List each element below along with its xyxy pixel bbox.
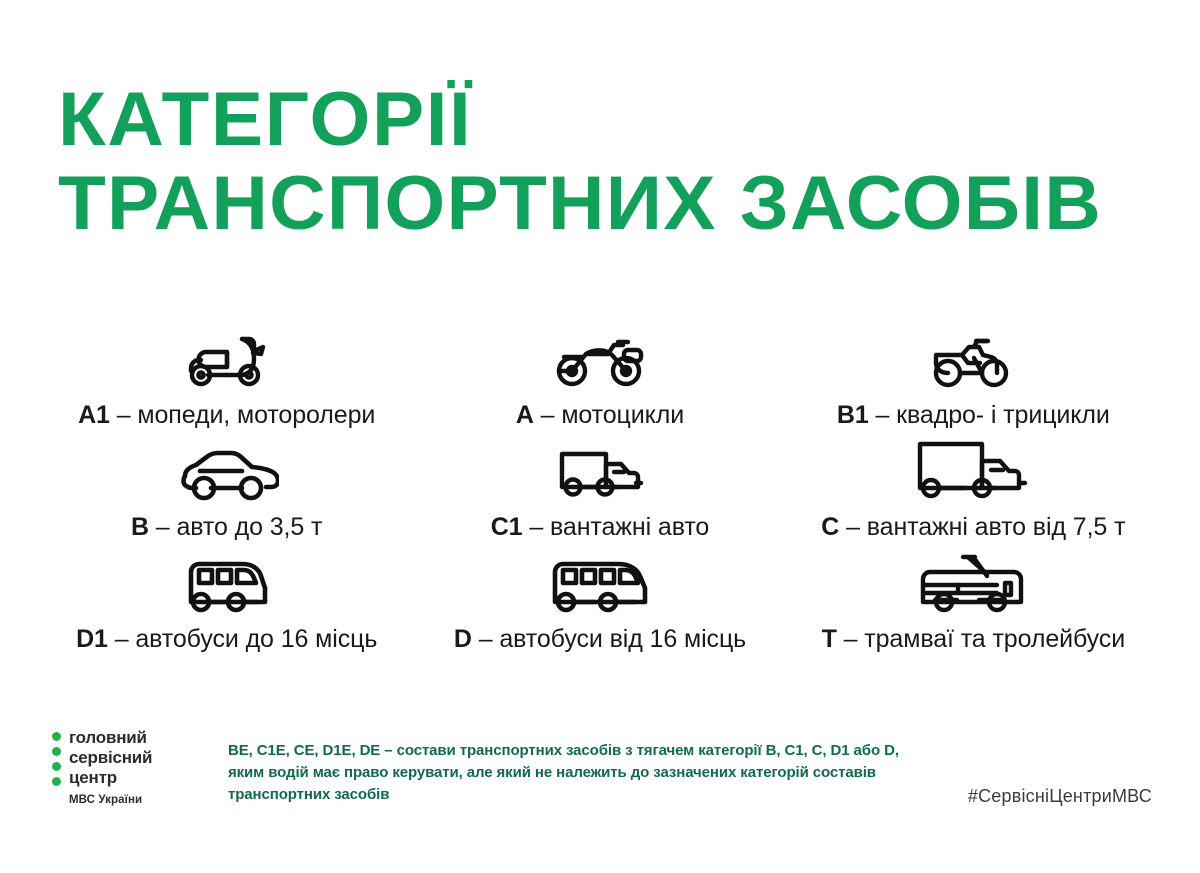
- category-code-c1: C1: [491, 513, 523, 541]
- category-code-d1: D1: [76, 625, 108, 653]
- logo-line-3: центр: [69, 768, 152, 788]
- category-label-d1: D1 – автобуси до 16 місць: [76, 624, 377, 654]
- category-dash-d1: –: [115, 625, 129, 653]
- bus-icon: [545, 552, 655, 614]
- organisation-logo: головний сервісний центр МВС України: [52, 728, 152, 808]
- category-label-b: B – авто до 3,5 т: [131, 512, 322, 542]
- category-item-b1: B1 – квадро- і трицикли: [787, 318, 1160, 430]
- category-label-d: D – автобуси від 16 місць: [454, 624, 746, 654]
- category-code-d: D: [454, 625, 472, 653]
- minibus-icon: [179, 552, 275, 614]
- category-item-a: A – мотоцикли: [413, 318, 786, 430]
- small-truck-icon: [550, 440, 650, 502]
- category-code-b: B: [131, 513, 149, 541]
- category-text-c: вантажні авто від 7,5 т: [867, 513, 1126, 541]
- category-code-a: A: [516, 401, 534, 429]
- large-truck-icon: [910, 440, 1036, 502]
- category-label-a1: A1 – мопеди, моторолери: [78, 400, 375, 430]
- logo-subtitle: МВС України: [69, 792, 152, 808]
- category-grid: A1 – мопеди, моторолери A –: [40, 318, 1160, 654]
- category-label-c: C – вантажні авто від 7,5 т: [821, 512, 1125, 542]
- category-dash-a1: –: [117, 401, 131, 429]
- category-text-c1: вантажні авто: [550, 513, 709, 541]
- category-label-c1: C1 – вантажні авто: [491, 512, 710, 542]
- category-label-b1: B1 – квадро- і трицикли: [837, 400, 1110, 430]
- category-dash-c: –: [846, 513, 860, 541]
- logo-dots-icon: [52, 728, 61, 786]
- category-text-a1: мопеди, моторолери: [137, 401, 375, 429]
- category-text-d: автобуси від 16 місць: [499, 625, 746, 653]
- logo-line-1: головний: [69, 728, 152, 748]
- category-dash-t: –: [844, 625, 858, 653]
- category-dash-a: –: [541, 401, 555, 429]
- logo-line-2: сервісний: [69, 748, 152, 768]
- category-dash-b1: –: [876, 401, 890, 429]
- category-dash-d: –: [479, 625, 493, 653]
- car-icon: [175, 440, 279, 502]
- category-dash-c1: –: [529, 513, 543, 541]
- page-title-line-1: КАТЕГОРІЇ: [58, 78, 1181, 162]
- category-code-b1: B1: [837, 401, 869, 429]
- category-label-t: T – трамваї та тролейбуси: [822, 624, 1125, 654]
- category-code-t: T: [822, 625, 837, 653]
- category-code-c: C: [821, 513, 839, 541]
- category-text-b1: квадро- і трицикли: [896, 401, 1110, 429]
- category-item-d: D – автобуси від 16 місць: [413, 542, 786, 654]
- category-item-a1: A1 – мопеди, моторолери: [40, 318, 413, 430]
- footer-hashtag: #СервісніЦентриМВС: [968, 786, 1152, 807]
- category-dash-b: –: [156, 513, 170, 541]
- footer: головний сервісний центр МВС України BE,…: [0, 718, 1200, 873]
- page-title: КАТЕГОРІЇ ТРАНСПОРТНИХ ЗАСОБІВ: [58, 78, 1148, 246]
- footer-note: BE, C1E, CE, D1E, DE – состави транспорт…: [228, 740, 918, 806]
- category-item-b: B – авто до 3,5 т: [40, 430, 413, 542]
- category-text-d1: автобуси до 16 місць: [135, 625, 377, 653]
- page-title-line-2: ТРАНСПОРТНИХ ЗАСОБІВ: [58, 162, 1181, 246]
- category-label-a: A – мотоцикли: [516, 400, 684, 430]
- category-text-b: авто до 3,5 т: [176, 513, 322, 541]
- category-code-a1: A1: [78, 401, 110, 429]
- category-item-t: T – трамваї та тролейбуси: [787, 542, 1160, 654]
- category-item-d1: D1 – автобуси до 16 місць: [40, 542, 413, 654]
- scooter-icon: [179, 328, 275, 390]
- category-item-c: C – вантажні авто від 7,5 т: [787, 430, 1160, 542]
- category-text-t: трамваї та тролейбуси: [864, 625, 1125, 653]
- category-item-c1: C1 – вантажні авто: [413, 430, 786, 542]
- category-text-a: мотоцикли: [561, 401, 684, 429]
- motorcycle-icon: [550, 328, 650, 390]
- trolleybus-icon: [911, 552, 1035, 614]
- quad-bike-icon: [927, 328, 1019, 390]
